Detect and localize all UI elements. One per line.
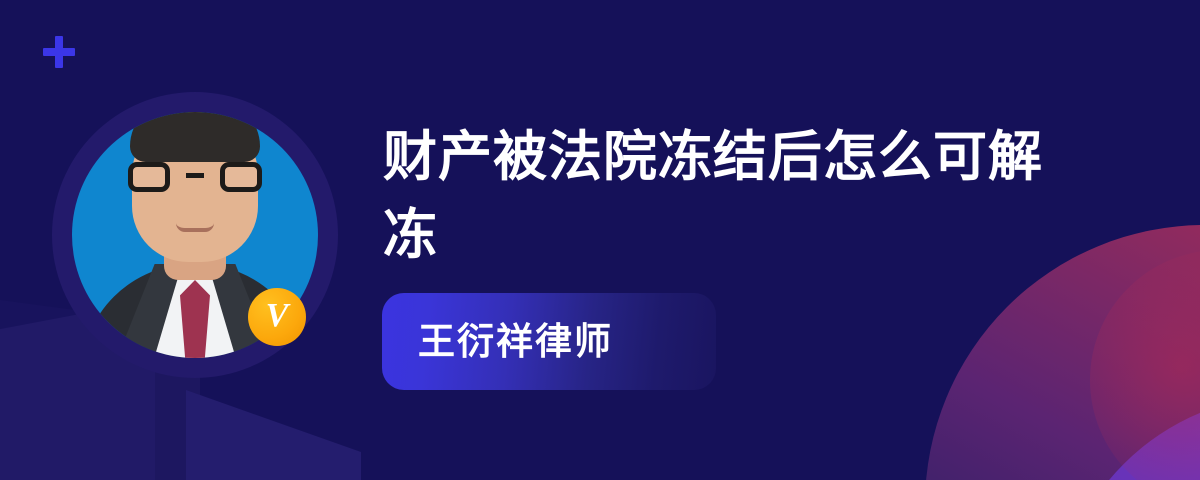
portrait-glasses-right xyxy=(220,162,262,192)
circle-arc-violet xyxy=(1055,395,1200,480)
plus-icon xyxy=(43,36,75,68)
lawyer-name-button[interactable]: 王衍祥律师 xyxy=(382,293,716,390)
portrait-mouth xyxy=(176,223,214,232)
lawyer-question-banner: V 财产被法院冻结后怎么可解冻 王衍祥律师 xyxy=(0,0,1200,480)
portrait-hair xyxy=(130,112,260,162)
portrait-glasses-bridge xyxy=(186,173,204,178)
verified-badge-glyph: V xyxy=(266,299,289,333)
content-column: 财产被法院冻结后怎么可解冻 xyxy=(383,118,1083,274)
portrait-tie xyxy=(180,280,210,358)
page-title: 财产被法院冻结后怎么可解冻 xyxy=(383,118,1061,274)
portrait-glasses-left xyxy=(128,162,170,192)
lawyer-name-label: 王衍祥律师 xyxy=(418,323,613,360)
avatar: V xyxy=(52,92,338,378)
polygon-shape-right xyxy=(186,390,361,480)
verified-badge-icon: V xyxy=(248,288,306,346)
circle-arc-glow xyxy=(1090,250,1200,480)
